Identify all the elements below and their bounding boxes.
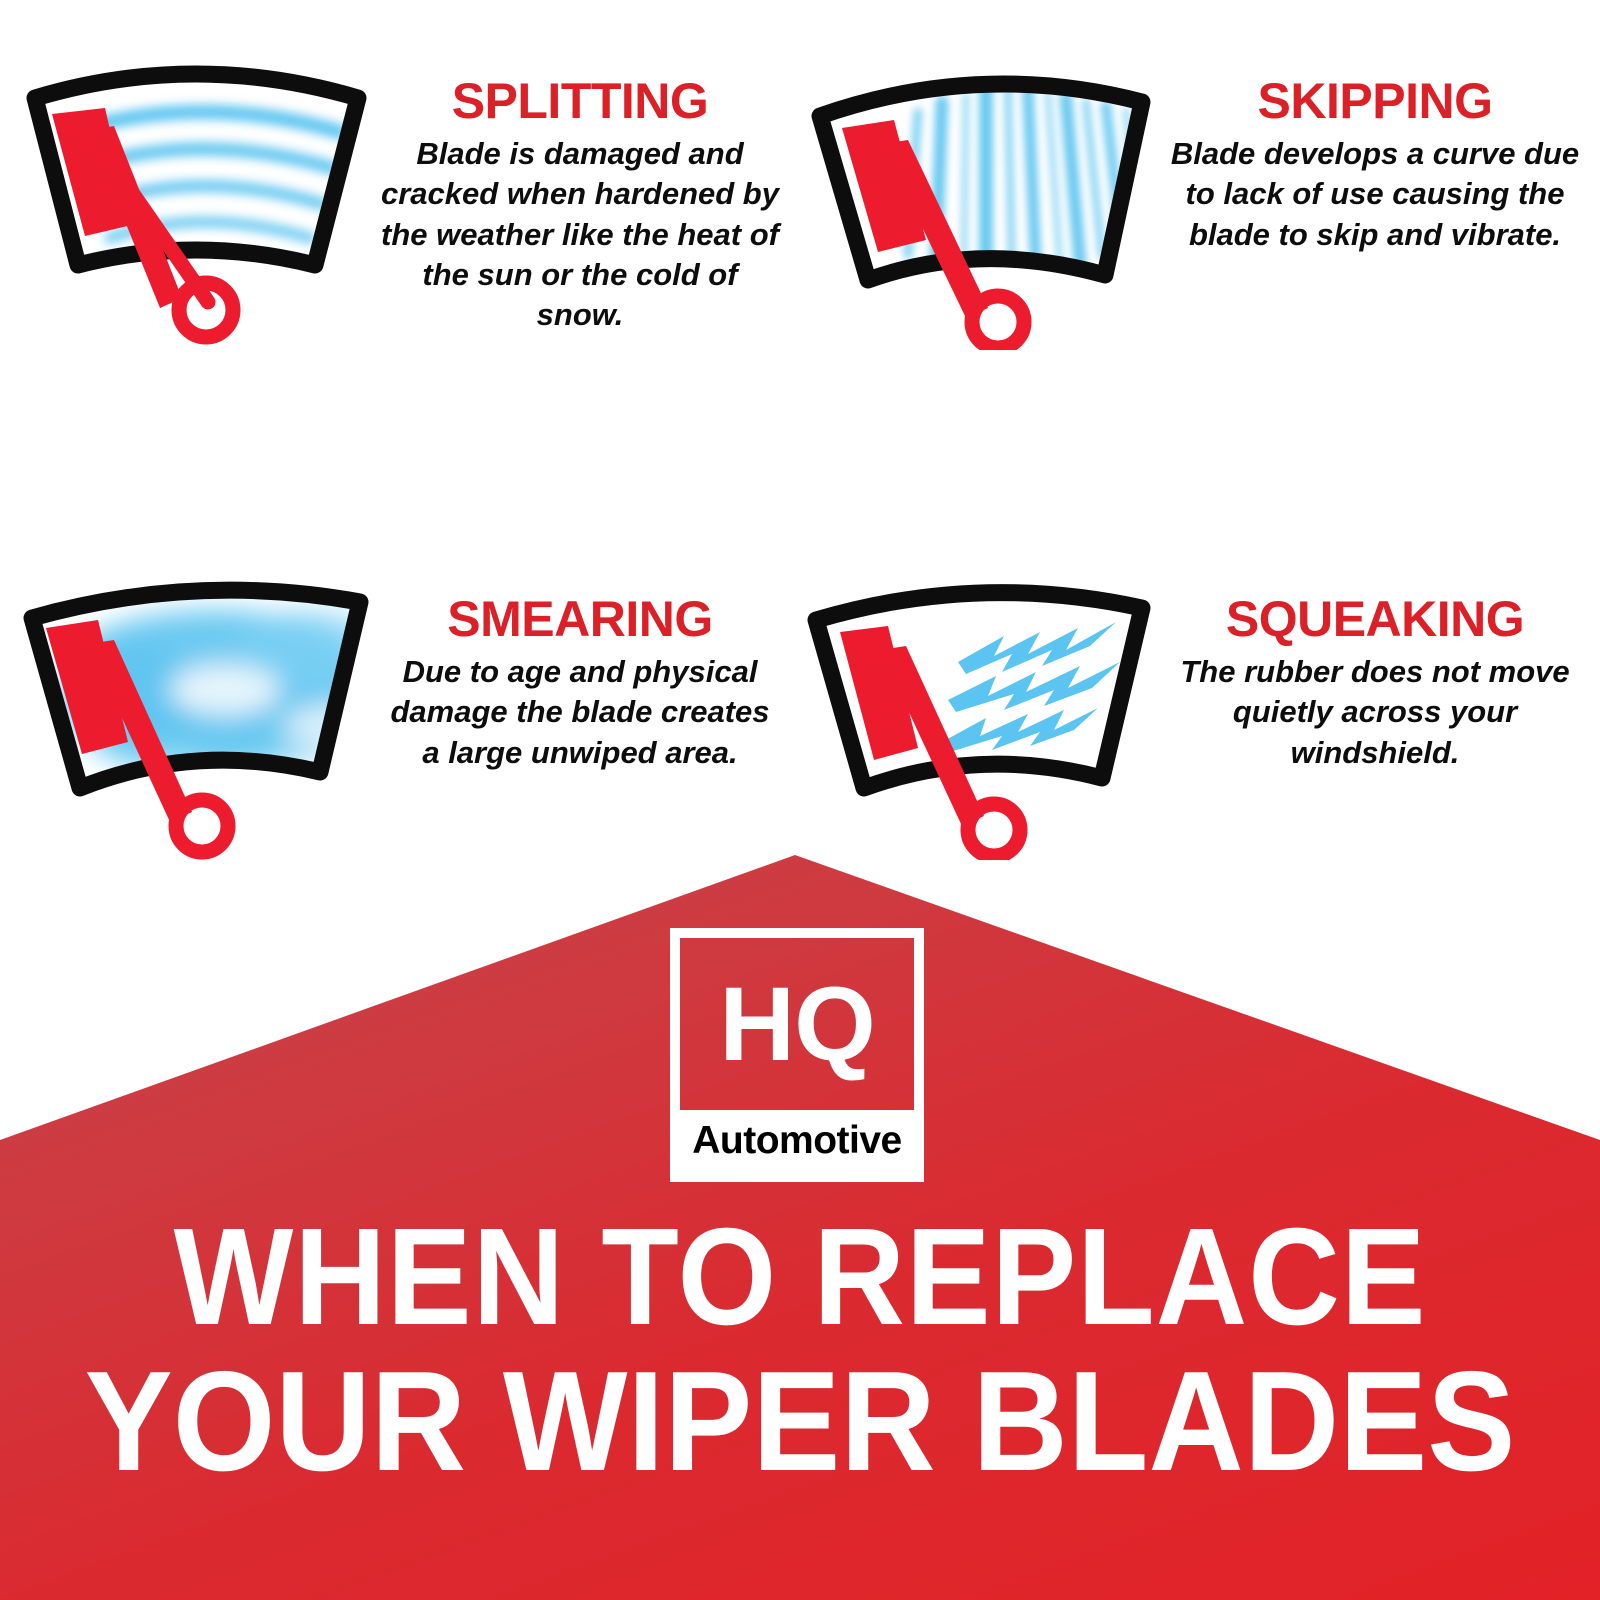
panel-description: The rubber does not move quietly across … xyxy=(1160,652,1590,773)
panel-description: Due to age and physical damage the blade… xyxy=(380,652,780,773)
panel-title: SQUEAKING xyxy=(1160,594,1590,644)
panel-text-block: SMEARING Due to age and physical damage … xyxy=(380,550,780,773)
panel-title: SPLITTING xyxy=(380,76,780,126)
panel-text-block: SKIPPING Blade develops a curve due to l… xyxy=(1160,40,1590,255)
infographic-page: SPLITTING Blade is damaged and cracked w… xyxy=(0,0,1600,1600)
wiper-splitting-icon xyxy=(10,40,380,350)
wiper-skipping-icon xyxy=(790,40,1160,350)
symptom-panel-skipping: SKIPPING Blade develops a curve due to l… xyxy=(790,40,1590,350)
panel-text-block: SQUEAKING The rubber does not move quiet… xyxy=(1160,550,1590,773)
hq-automotive-logo: HQ Automotive xyxy=(670,928,924,1182)
panel-text-block: SPLITTING Blade is damaged and cracked w… xyxy=(380,40,780,335)
symptom-panel-squeaking: SQUEAKING The rubber does not move quiet… xyxy=(790,550,1590,860)
panel-title: SKIPPING xyxy=(1160,76,1590,126)
headline-line-2: YOUR WIPER BLADES xyxy=(56,1355,1544,1490)
panel-description: Blade develops a curve due to lack of us… xyxy=(1160,134,1590,255)
headline-line-1: WHEN TO REPLACE xyxy=(64,1212,1536,1343)
logo-initials: HQ xyxy=(719,972,875,1077)
panel-title: SMEARING xyxy=(380,594,780,644)
headline-block: WHEN TO REPLACE YOUR WIPER BLADES xyxy=(0,1212,1600,1490)
symptom-panel-smearing: SMEARING Due to age and physical damage … xyxy=(10,550,780,860)
symptom-panel-splitting: SPLITTING Blade is damaged and cracked w… xyxy=(10,40,780,350)
logo-mark: HQ xyxy=(680,938,914,1110)
wiper-squeaking-icon xyxy=(790,550,1160,860)
panel-description: Blade is damaged and cracked when harden… xyxy=(380,134,780,335)
wiper-smearing-icon xyxy=(10,550,380,860)
logo-wordmark: Automotive xyxy=(680,1110,914,1172)
